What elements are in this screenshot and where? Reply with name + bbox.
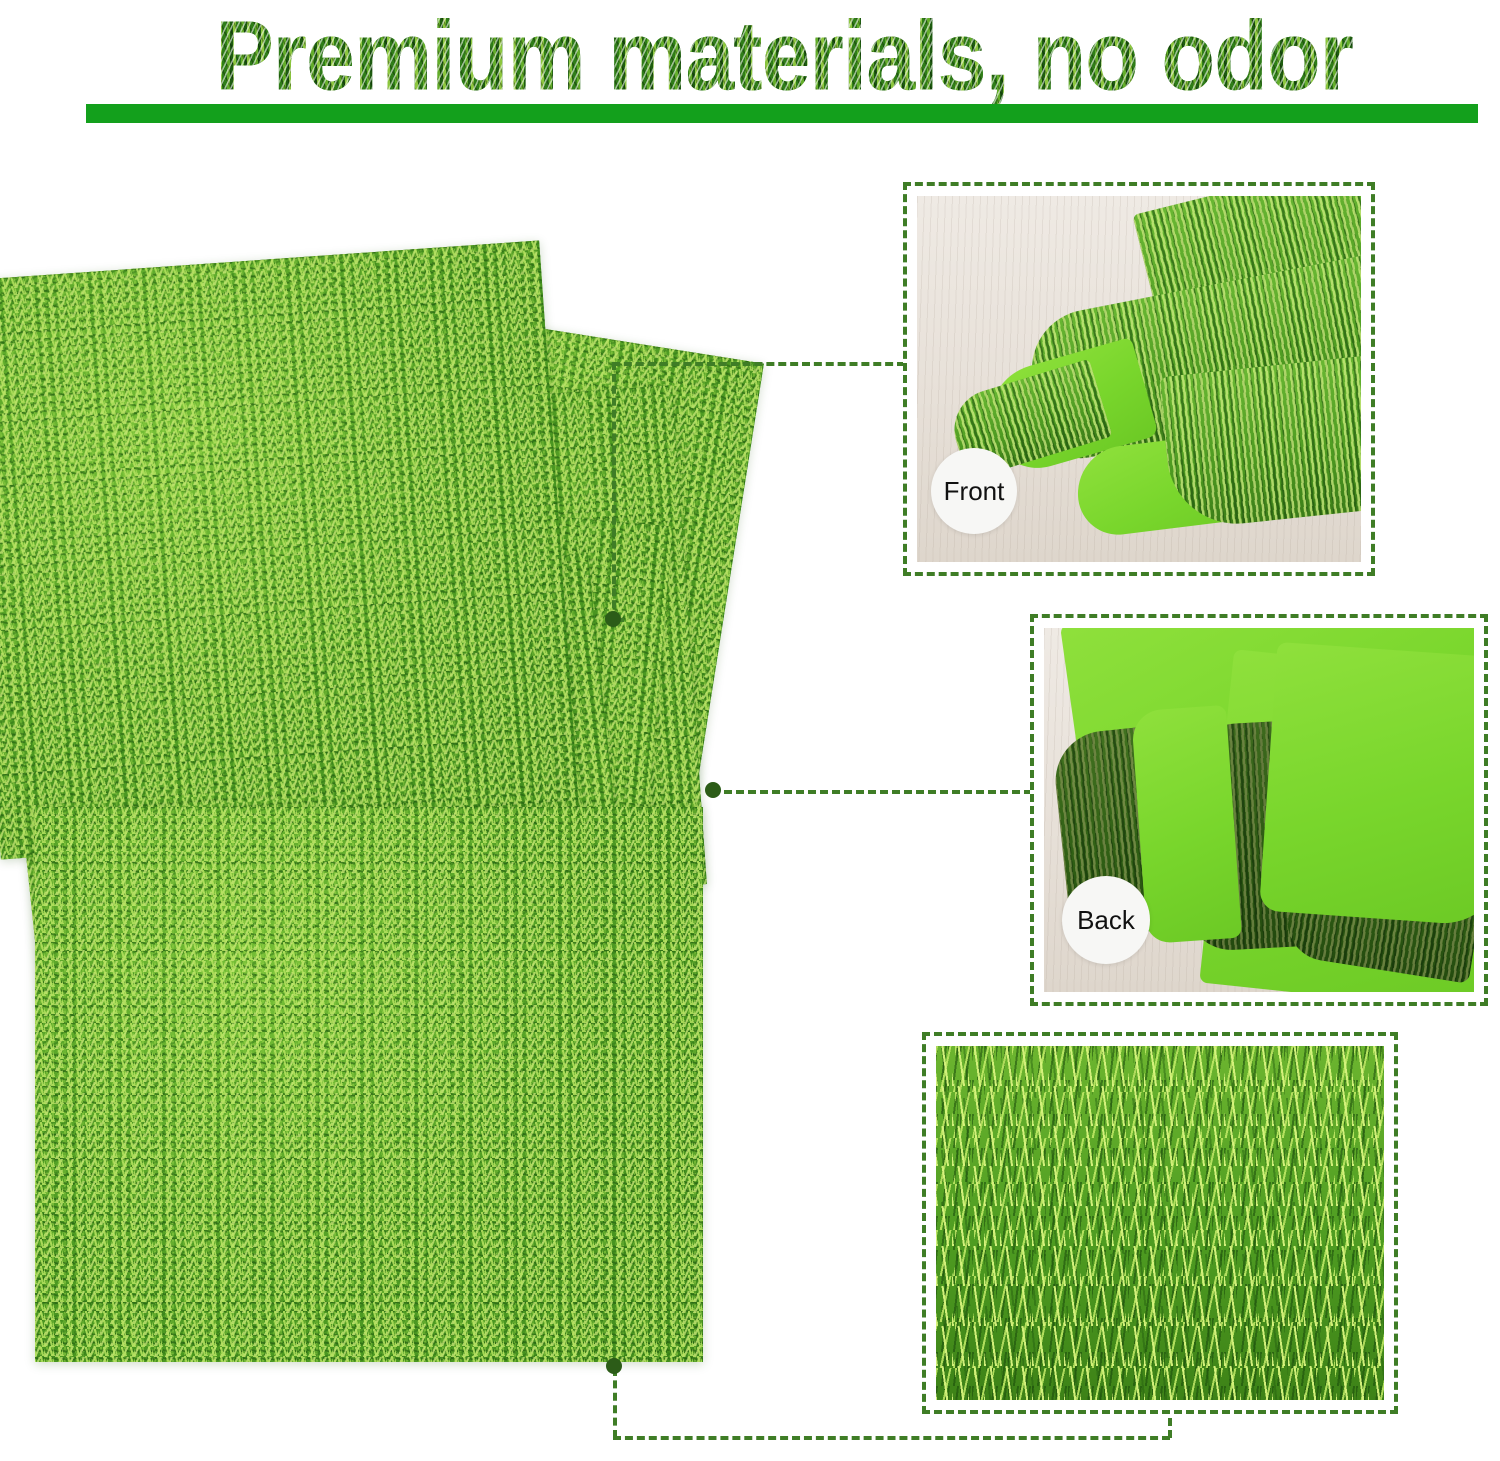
- grass-mat-sheet: [0, 240, 580, 859]
- grass-closeup-photo: [936, 1046, 1384, 1400]
- callout-panel-closeup[interactable]: [922, 1032, 1398, 1414]
- connector-segment-horizontal: [613, 1436, 1170, 1440]
- turf-slab: [1158, 352, 1361, 531]
- product-grass-mat-stack: [0, 252, 790, 1372]
- connector-segment-horizontal: [712, 790, 1032, 794]
- callout-panel-back[interactable]: Back: [1030, 614, 1488, 1006]
- connector-anchor-dot: [605, 611, 621, 627]
- header-banner: Premium materials, no odor: [0, 0, 1500, 132]
- grass-mat-sheet: [35, 807, 703, 1362]
- infographic-canvas: Premium materials, no odor: [0, 0, 1500, 1461]
- callout-panel-front[interactable]: Front: [903, 182, 1375, 576]
- connector-segment-vertical: [613, 1368, 617, 1438]
- backing-fold: [1258, 642, 1474, 928]
- front-badge: Front: [931, 448, 1017, 534]
- back-badge: Back: [1062, 876, 1150, 964]
- front-face-photo: Front: [917, 196, 1361, 562]
- back-badge-label: Back: [1077, 905, 1135, 936]
- page-title: Premium materials, no odor: [84, 2, 1484, 110]
- back-face-photo: Back: [1044, 628, 1474, 992]
- connector-anchor-dot: [705, 782, 721, 798]
- connector-anchor-dot: [606, 1358, 622, 1374]
- connector-segment-horizontal: [612, 362, 905, 366]
- title-underline-rule: [86, 104, 1478, 123]
- grass-blade-texture: [936, 1046, 1384, 1400]
- connector-segment-vertical: [612, 362, 616, 620]
- front-badge-label: Front: [944, 476, 1005, 507]
